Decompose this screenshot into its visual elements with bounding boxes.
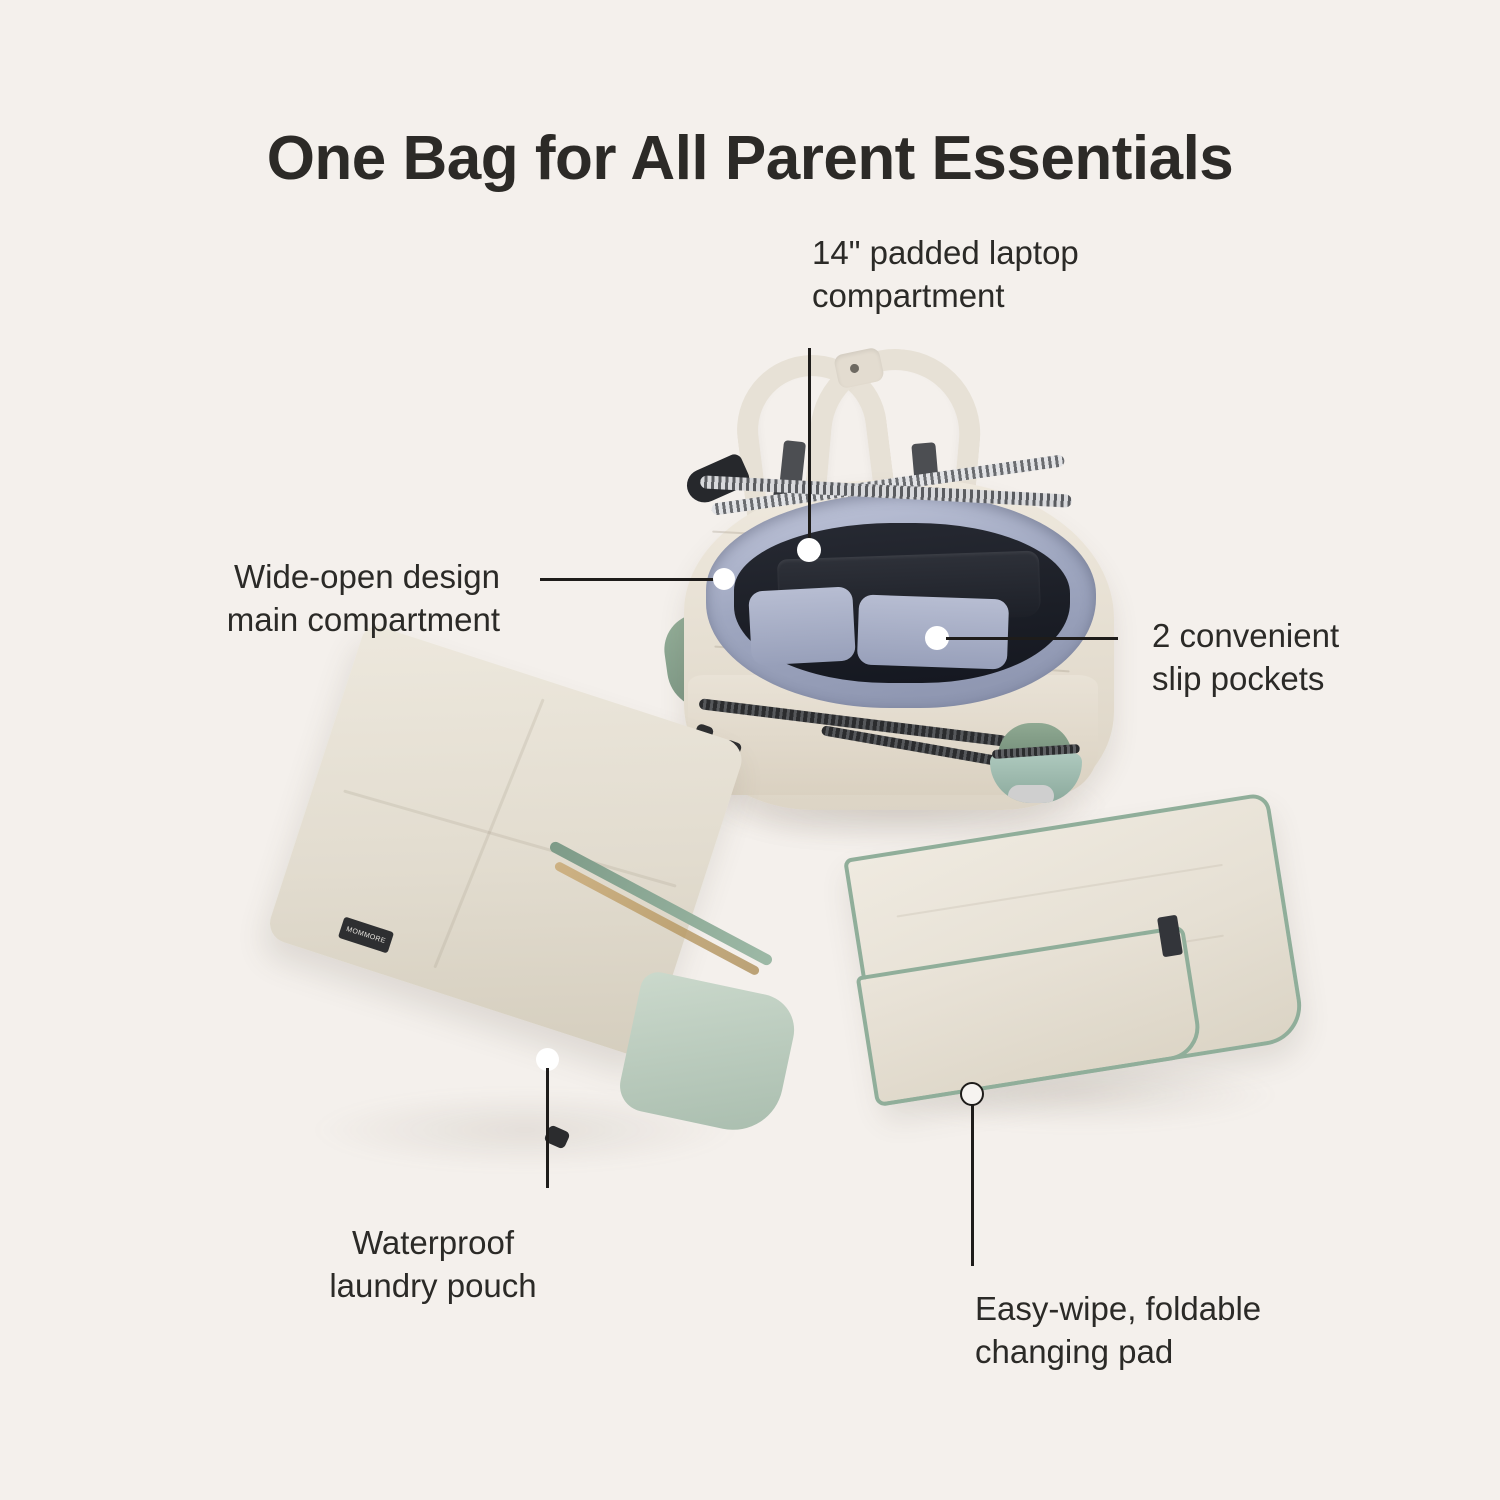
callout-label-main: Wide-open design main compartment bbox=[80, 556, 500, 642]
callout-dot-laptop[interactable] bbox=[797, 538, 821, 562]
product-laundry-pouch: MOMMORE bbox=[296, 636, 816, 1156]
leader-line-changing bbox=[971, 1104, 974, 1266]
callout-dot-main[interactable] bbox=[713, 568, 735, 590]
page-title: One Bag for All Parent Essentials bbox=[0, 124, 1500, 193]
callout-label-changing: Easy-wipe, foldable changing pad bbox=[975, 1288, 1261, 1374]
callout-dot-changing[interactable] bbox=[960, 1082, 984, 1106]
product-changing-pad bbox=[860, 800, 1340, 1130]
leader-line-slip bbox=[946, 637, 1118, 640]
infographic-canvas: One Bag for All Parent Essentials bbox=[0, 0, 1500, 1500]
laundry-pouch-liner bbox=[615, 969, 801, 1139]
callout-label-slip: 2 convenient slip pockets bbox=[1152, 615, 1339, 701]
callout-label-laptop: 14" padded laptop compartment bbox=[812, 232, 1079, 318]
pacifier-pouch-body bbox=[990, 753, 1082, 803]
leader-line-main bbox=[540, 578, 718, 581]
leader-line-laptop bbox=[808, 348, 811, 548]
product-pacifier-pouch bbox=[990, 723, 1082, 803]
leader-line-laundry bbox=[546, 1068, 549, 1188]
brand-tag-text: MOMMORE bbox=[345, 925, 386, 944]
callout-label-laundry: Waterproof laundry pouch bbox=[268, 1222, 598, 1308]
